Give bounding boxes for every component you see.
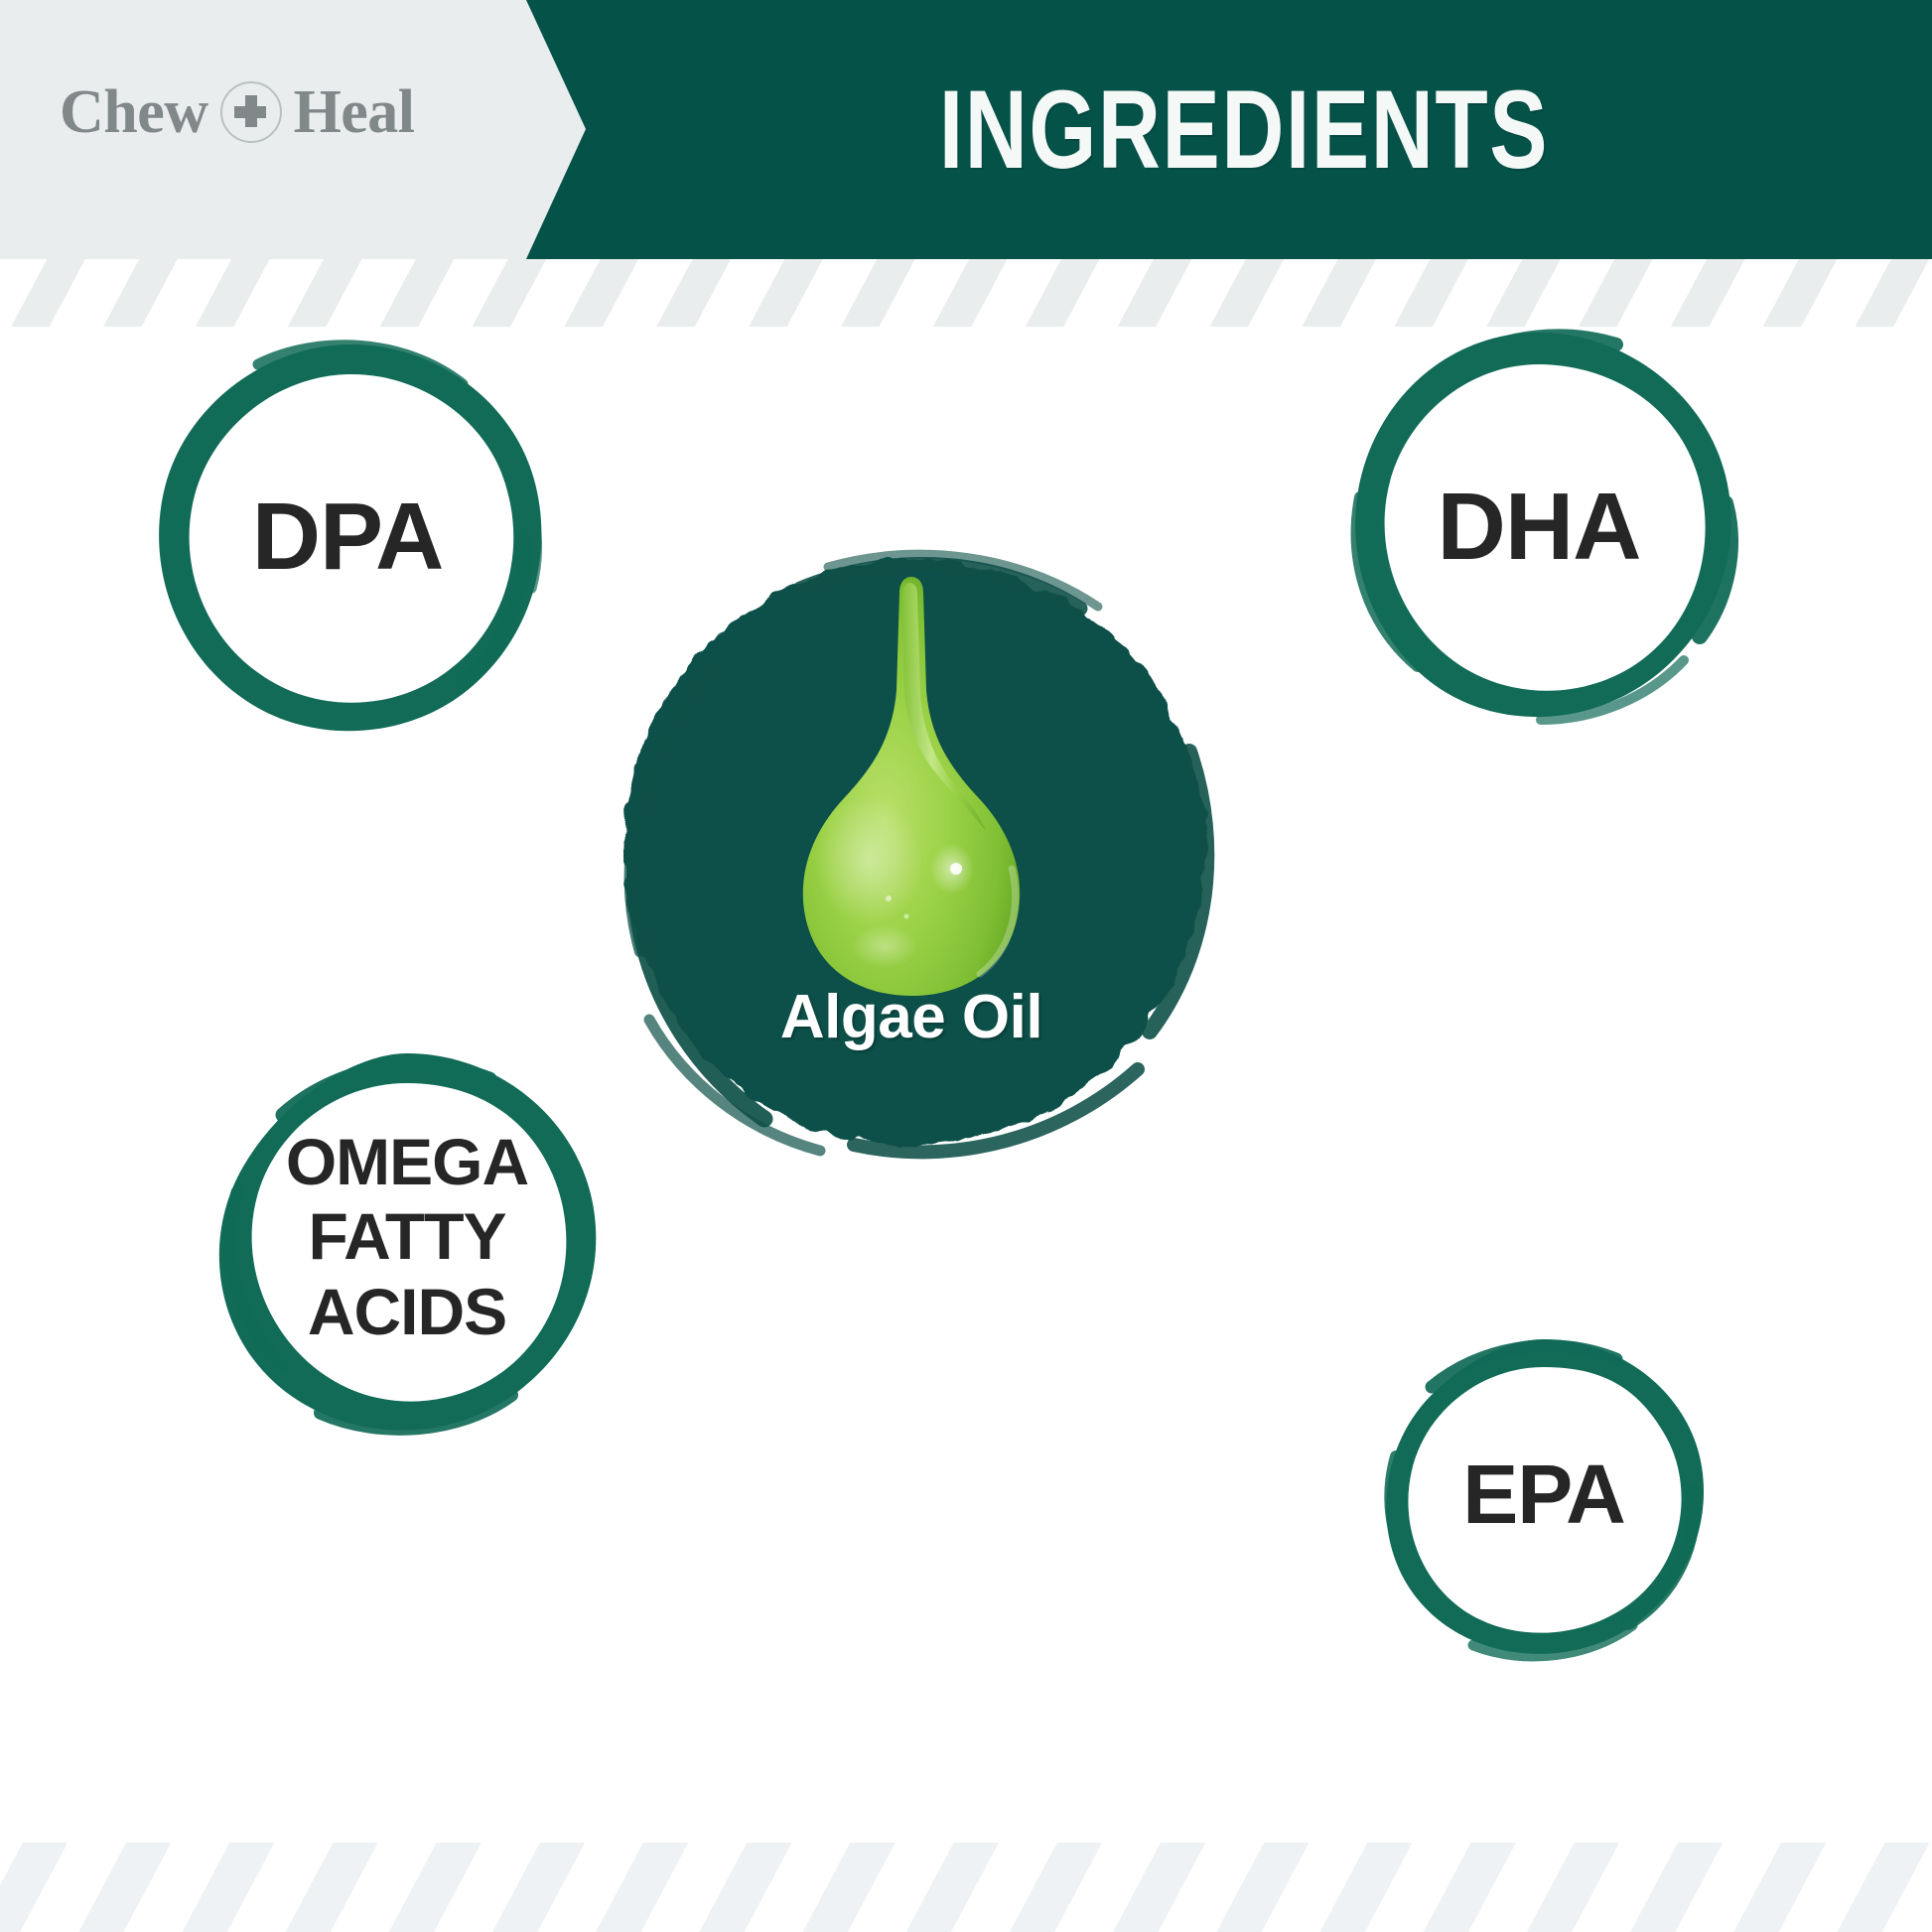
ingredients-diagram: DPA DHA [0,259,1932,1932]
plus-in-circle-icon [220,81,282,143]
logo-text-right: Heal [294,81,415,143]
ingredient-bubble-dha[interactable]: DHA [1330,319,1747,736]
ingredient-bubble-omega-fatty-acids[interactable]: OMEGA FATTY ACIDS [213,1043,601,1431]
brush-circle-outline-icon [139,329,556,746]
ingredient-bubble-epa[interactable]: EPA [1380,1331,1708,1659]
oil-droplet-icon [777,571,1045,998]
brand-logo: Chew Heal [60,81,415,143]
oil-droplet-shape [777,571,1045,998]
ingredient-bubble-dpa[interactable]: DPA [139,329,556,746]
brush-circle-outline-icon [1330,319,1747,736]
center-badge-algae-oil[interactable]: Algae Oil [594,537,1229,1173]
page-title: INGREDIENTS [707,0,1780,259]
brush-circle-outline-icon [213,1043,601,1431]
header-bar: Chew Heal INGREDIENTS [0,0,1932,259]
brush-circle-outline-icon [1380,1331,1708,1659]
infographic-canvas: Chew Heal INGREDIENTS DPA [0,0,1932,1932]
logo-text-left: Chew [60,81,208,143]
center-caption-algae-oil: Algae Oil [594,982,1229,1052]
